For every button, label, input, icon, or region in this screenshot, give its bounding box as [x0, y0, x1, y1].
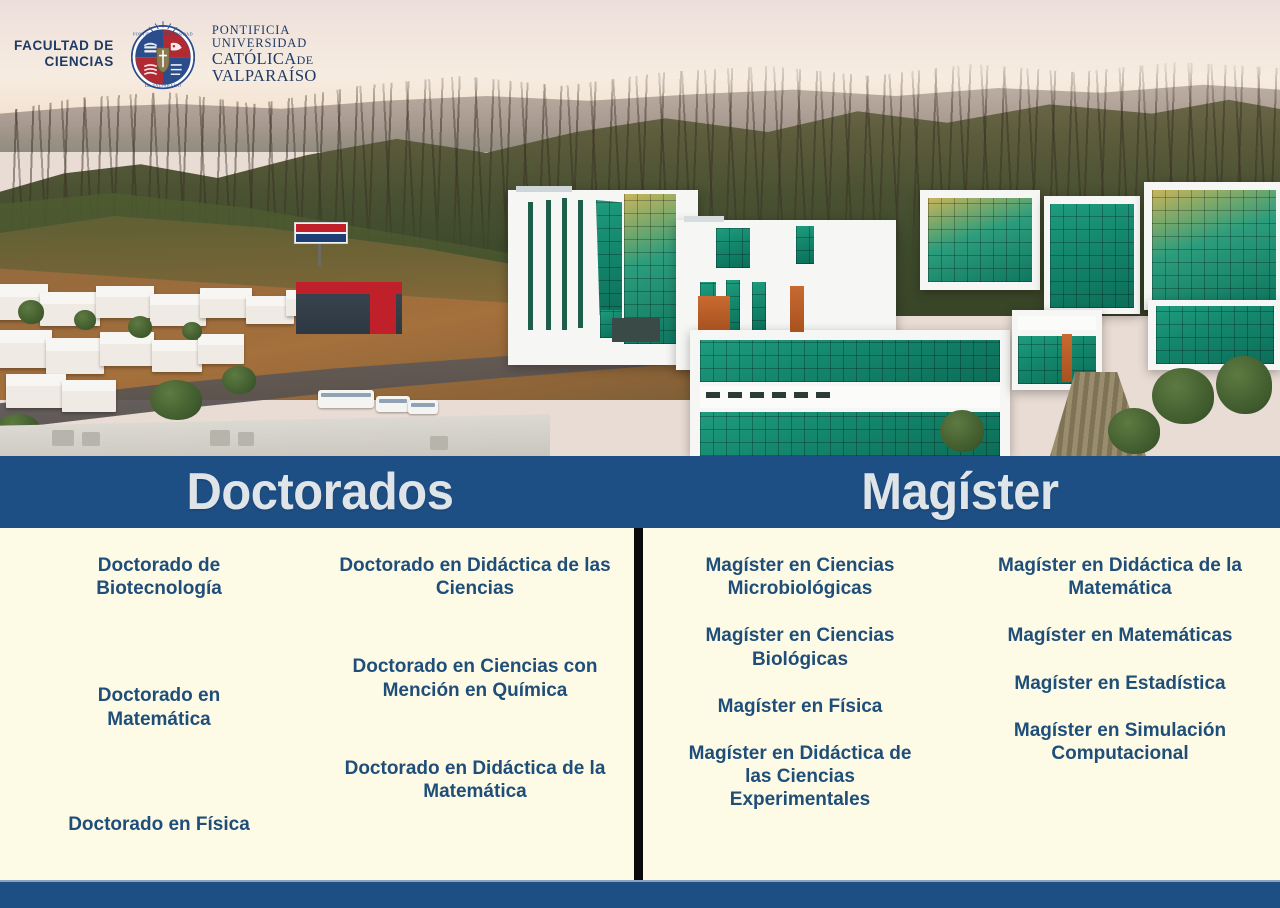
magister-section: Magíster en Ciencias Microbiológicas Mag…: [640, 528, 1280, 880]
bus: [376, 396, 410, 412]
program-item[interactable]: Magíster en Matemáticas: [990, 624, 1250, 647]
svg-text:PONTIFICIA UNIVERSIDAD: PONTIFICIA UNIVERSIDAD: [133, 31, 193, 36]
red-industrial-building: [296, 282, 402, 334]
doctorados-section: Doctorado de Biotecnología Doctorado en …: [0, 528, 640, 880]
billboard-sign: [294, 222, 348, 244]
university-line-3-suffix: DE: [297, 53, 314, 67]
billboard-post: [318, 244, 321, 266]
magister-column-d: Magíster en Didáctica de la Matemática M…: [960, 528, 1280, 880]
university-line-3: CATÓLICADE: [212, 50, 317, 67]
doctorados-header: Doctorados: [187, 466, 454, 518]
program-item[interactable]: Magíster en Didáctica de la Matemática: [990, 554, 1250, 600]
bus: [318, 390, 374, 408]
program-item[interactable]: Magíster en Simulación Computacional: [990, 719, 1250, 765]
program-item[interactable]: Doctorado en Física: [59, 813, 259, 836]
poster-root: FACULTAD DE CIENCIAS: [0, 0, 1280, 908]
program-item[interactable]: Doctorado en Ciencias con Mención en Quí…: [310, 655, 640, 701]
header-right-half: Magíster: [640, 456, 1280, 528]
program-item[interactable]: Magíster en Física: [675, 695, 925, 718]
program-item[interactable]: Magíster en Ciencias Biológicas: [675, 624, 925, 670]
university-line-3-main: CATÓLICA: [212, 49, 297, 68]
footer-bar: [0, 880, 1280, 908]
university-line-1: PONTIFICIA: [212, 24, 317, 37]
doctorados-column-a: Doctorado de Biotecnología Doctorado en …: [0, 528, 310, 880]
program-item[interactable]: Doctorado en Didáctica de las Ciencias: [310, 554, 640, 600]
column-divider: [634, 528, 643, 880]
faculty-line-1: FACULTAD DE: [14, 38, 114, 54]
magister-column-c: Magíster en Ciencias Microbiológicas Mag…: [640, 528, 960, 880]
logo-bar: FACULTAD DE CIENCIAS: [0, 0, 330, 108]
header-left-half: Doctorados: [0, 456, 640, 528]
magister-header: Magíster: [861, 466, 1058, 518]
section-headers-band: Doctorados Magíster: [0, 456, 1280, 528]
svg-text:DE VALPARAÍSO: DE VALPARAÍSO: [145, 83, 181, 88]
program-item[interactable]: Doctorado en Matemática: [59, 684, 259, 730]
faculty-name: FACULTAD DE CIENCIAS: [14, 38, 114, 70]
program-item[interactable]: Magíster en Ciencias Microbiológicas: [675, 554, 925, 600]
faculty-line-2: CIENCIAS: [14, 54, 114, 70]
program-item[interactable]: Doctorado en Didáctica de la Matemática: [310, 757, 640, 803]
program-item[interactable]: Magíster en Didáctica de las Ciencias Ex…: [675, 742, 925, 812]
pucv-crest-icon: PONTIFICIA UNIVERSIDAD DE VALPARAÍSO: [124, 15, 202, 93]
university-line-4: VALPARAÍSO: [212, 67, 317, 84]
doctorados-column-b: Doctorado en Didáctica de las Ciencias D…: [310, 528, 640, 880]
bus: [408, 400, 438, 414]
program-item[interactable]: Magíster en Estadística: [990, 672, 1250, 695]
program-item[interactable]: Doctorado de Biotecnología: [59, 554, 259, 600]
university-wordmark: PONTIFICIA UNIVERSIDAD CATÓLICADE VALPAR…: [212, 24, 317, 85]
